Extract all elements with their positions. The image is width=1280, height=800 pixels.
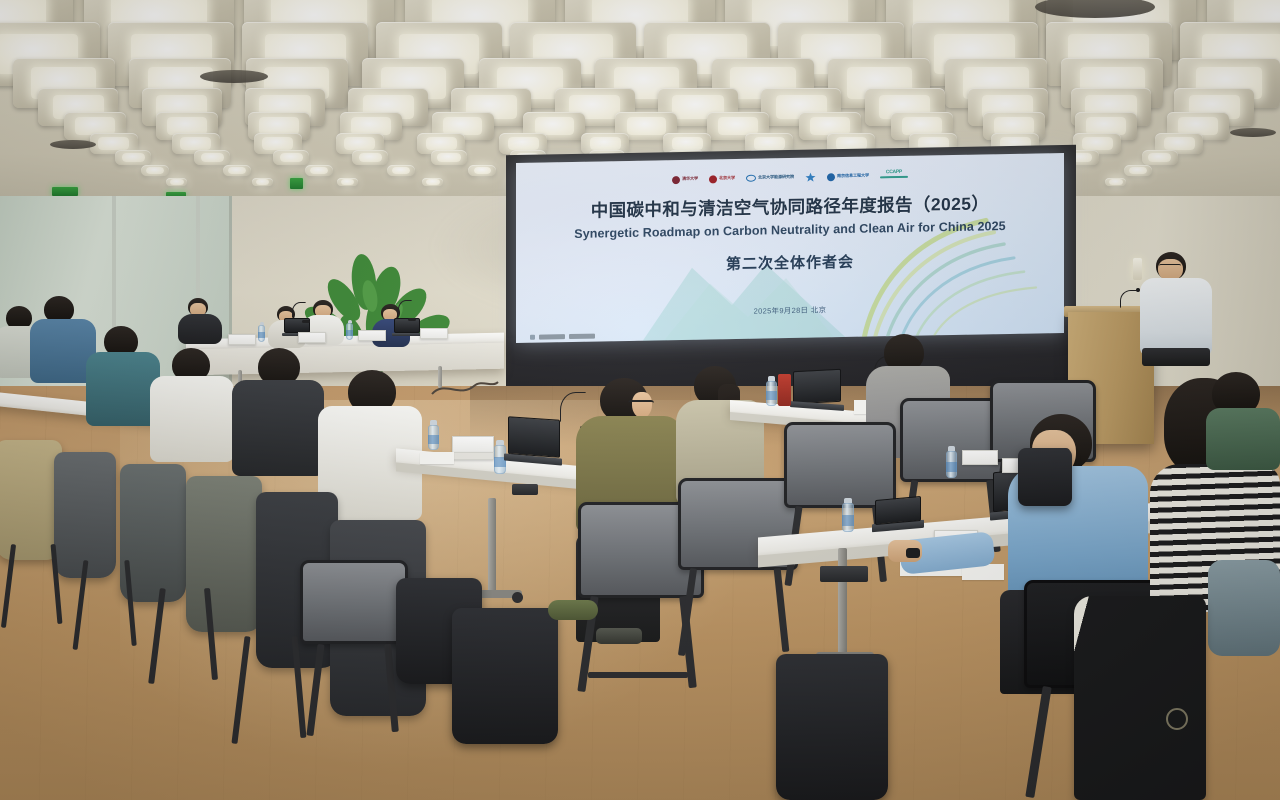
name-placard [298, 332, 326, 343]
floor-cable [430, 376, 500, 402]
floor-bag [548, 600, 598, 620]
paper-document [420, 452, 454, 464]
laptop[interactable] [872, 498, 924, 532]
taskbar-item[interactable] [539, 334, 565, 339]
screen-taskbar[interactable] [530, 334, 595, 340]
name-placard-base [452, 452, 494, 460]
water-bottle [346, 320, 353, 340]
name-placard [962, 450, 998, 465]
slide-logo-row: 清华大学 北京大学 北京大学能源研究院 南京信息工程大学 CCAPP [516, 167, 1064, 188]
chair[interactable] [72, 560, 142, 666]
table-leg [838, 548, 847, 658]
draped-jacket [1074, 596, 1206, 800]
phone[interactable] [512, 484, 538, 495]
attendee-right-green [1206, 372, 1280, 468]
logo-tsinghua-university: 清华大学 [672, 174, 698, 185]
speaker-belt [1142, 348, 1210, 366]
backpack [776, 654, 888, 800]
water-bottle [946, 446, 957, 478]
attendee-left-3 [86, 326, 160, 424]
wristwatch [906, 548, 920, 558]
ceiling-duct-icon [1230, 128, 1276, 137]
logo-star-institute [805, 172, 816, 183]
logo-beijing-energy-institute: 北京大学能源研究院 [746, 172, 794, 184]
attendee-front-striped-lap [1208, 560, 1280, 656]
taskbar-icon[interactable] [530, 335, 535, 340]
table-leg [488, 498, 496, 594]
chair[interactable] [300, 560, 410, 740]
glasses-icon [1159, 264, 1181, 269]
laptop[interactable] [790, 370, 844, 412]
name-placard [358, 330, 386, 341]
projection-screen[interactable]: 清华大学 北京大学 北京大学能源研究院 南京信息工程大学 CCAPP [516, 153, 1064, 343]
backpack [452, 608, 558, 744]
water-bottle [842, 498, 854, 532]
attendee-back-left [178, 298, 222, 344]
taskbar-item[interactable] [569, 334, 595, 339]
water-bottle [766, 376, 777, 406]
backpack [1018, 448, 1072, 506]
name-placard [452, 436, 494, 453]
exit-sign-icon [290, 178, 303, 189]
conference-room-photo: 清华大学 北京大学 北京大学能源研究院 南京信息工程大学 CCAPP [0, 0, 1280, 800]
glasses-icon [628, 400, 654, 408]
water-bottle [428, 420, 439, 450]
chair[interactable] [148, 588, 224, 700]
table-caster [512, 592, 523, 603]
star-icon [805, 173, 816, 182]
laptop[interactable] [504, 418, 562, 466]
attendee-left-5 [232, 348, 324, 474]
logo-peking-university: 北京大学 [709, 173, 735, 184]
slide-text-block: 中国碳中和与清洁空气协同路径年度报告（2025） Synergetic Road… [516, 189, 1064, 278]
logo-nanjing-univ-info-sci-tech: 南京信息工程大学 [827, 171, 869, 183]
ceiling-duct-icon [200, 70, 268, 83]
table-microphone[interactable] [292, 302, 312, 324]
name-placard [228, 334, 256, 345]
jacket-emblem-icon [1166, 708, 1188, 730]
water-bottle [258, 322, 265, 342]
attendee-left-4 [150, 348, 234, 460]
name-placard [420, 328, 448, 339]
thermos [778, 374, 791, 406]
ceiling-duct-icon [50, 140, 96, 149]
draped-jacket [0, 440, 62, 560]
chair[interactable] [0, 544, 70, 644]
phone[interactable] [820, 566, 868, 582]
logo-ccapp: CCAPP [880, 170, 908, 182]
table-microphone[interactable] [398, 300, 418, 322]
exit-sign-icon [52, 187, 78, 196]
speaker-at-podium [1130, 252, 1218, 372]
